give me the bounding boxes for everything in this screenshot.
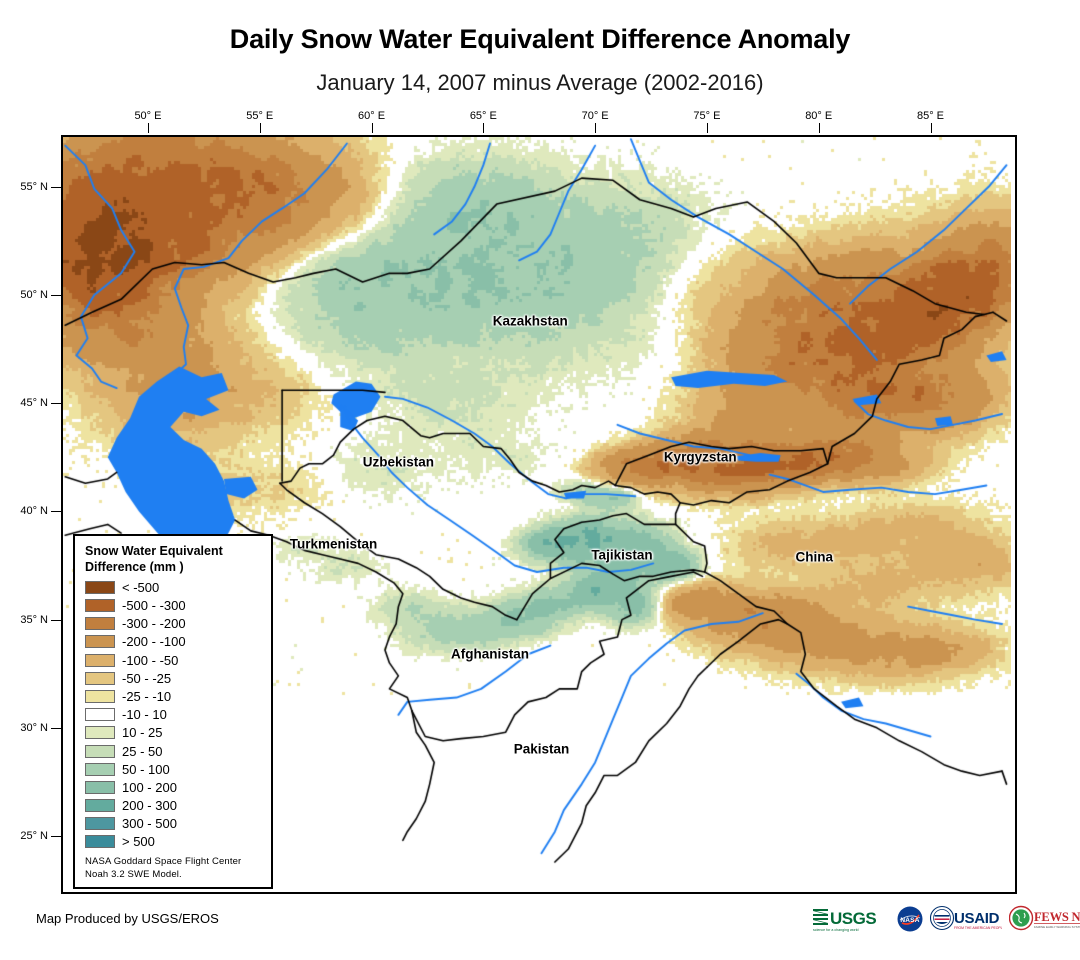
legend-label: -300 - -200 — [122, 617, 186, 630]
legend-row[interactable]: 25 - 50 — [85, 742, 263, 760]
page-title: Daily Snow Water Equivalent Difference A… — [0, 24, 1080, 55]
lon-tick-mark — [931, 123, 932, 133]
legend-panel[interactable]: Snow Water Equivalent Difference (mm ) <… — [73, 534, 273, 889]
svg-text:FEWS NET: FEWS NET — [1034, 910, 1080, 924]
legend-row[interactable]: 100 - 200 — [85, 778, 263, 796]
legend-swatch — [85, 635, 115, 648]
legend-label: -10 - 10 — [122, 708, 167, 721]
legend-swatch — [85, 708, 115, 721]
lon-tick-mark — [148, 123, 149, 133]
legend-label: 10 - 25 — [122, 726, 162, 739]
legend-label: > 500 — [122, 835, 155, 848]
produced-by-text: Map Produced by USGS/EROS — [36, 911, 219, 926]
legend-label: -200 - -100 — [122, 635, 186, 648]
lon-tick-mark — [260, 123, 261, 133]
legend-label: 300 - 500 — [122, 817, 177, 830]
usaid-logo-icon: USAID FROM THE AMERICAN PEOPLE — [930, 905, 1002, 933]
legend-row[interactable]: > 500 — [85, 833, 263, 851]
legend-swatch — [85, 654, 115, 667]
lon-tick-label: 55° E — [246, 110, 273, 122]
legend-row[interactable]: 300 - 500 — [85, 815, 263, 833]
lat-tick-label: 25° N — [8, 830, 48, 842]
legend-row[interactable]: -500 - -300 — [85, 596, 263, 614]
legend-label: 50 - 100 — [122, 763, 170, 776]
legend-label: -100 - -50 — [122, 654, 178, 667]
lat-tick-mark — [51, 403, 61, 404]
legend-label: 100 - 200 — [122, 781, 177, 794]
legend-swatch — [85, 817, 115, 830]
svg-text:FROM THE AMERICAN PEOPLE: FROM THE AMERICAN PEOPLE — [954, 926, 1002, 930]
lat-tick-mark — [51, 728, 61, 729]
legend-swatch — [85, 617, 115, 630]
lat-tick-label: 45° N — [8, 397, 48, 409]
page-subtitle: January 14, 2007 minus Average (2002-201… — [0, 70, 1080, 96]
nasa-logo-icon: NASA — [897, 906, 923, 932]
lat-tick-mark — [51, 187, 61, 188]
lat-tick-label: 55° N — [8, 181, 48, 193]
lat-tick-mark — [51, 836, 61, 837]
lon-tick-mark — [372, 123, 373, 133]
legend-swatch — [85, 781, 115, 794]
nasa-logo[interactable]: NASA — [897, 904, 923, 934]
lon-tick-label: 60° E — [358, 110, 385, 122]
legend-credit-line1: NASA Goddard Space Flight Center — [85, 856, 263, 869]
lon-tick-label: 75° E — [693, 110, 720, 122]
map-page: Daily Snow Water Equivalent Difference A… — [0, 0, 1080, 960]
lat-tick-label: 35° N — [8, 614, 48, 626]
legend-swatch — [85, 763, 115, 776]
svg-text:USGS: USGS — [830, 909, 876, 928]
usaid-logo[interactable]: USAID FROM THE AMERICAN PEOPLE — [930, 904, 1002, 934]
lon-tick-label: 85° E — [917, 110, 944, 122]
lat-tick-label: 50° N — [8, 289, 48, 301]
lon-tick-label: 70° E — [582, 110, 609, 122]
legend-row[interactable]: -10 - 10 — [85, 706, 263, 724]
legend-title: Snow Water Equivalent Difference (mm ) — [85, 544, 263, 575]
legend-title-line1: Snow Water Equivalent — [85, 544, 263, 560]
usgs-logo-icon: USGS science for a changing world — [812, 905, 890, 933]
lon-tick-label: 65° E — [470, 110, 497, 122]
lat-tick-mark — [51, 620, 61, 621]
legend-swatch — [85, 690, 115, 703]
legend-label: -25 - -10 — [122, 690, 171, 703]
legend-label: < -500 — [122, 581, 159, 594]
legend-credit: NASA Goddard Space Flight Center Noah 3.… — [85, 856, 263, 881]
svg-text:NASA: NASA — [900, 917, 919, 924]
fewsnet-logo[interactable]: FEWS NET FAMINE EARLY WARNING SYSTEMS NE… — [1009, 904, 1080, 934]
legend-row[interactable]: -100 - -50 — [85, 651, 263, 669]
lon-tick-label: 50° E — [134, 110, 161, 122]
legend-label: -50 - -25 — [122, 672, 171, 685]
legend-swatch — [85, 745, 115, 758]
legend-swatch — [85, 599, 115, 612]
svg-text:FAMINE EARLY WARNING SYSTEMS N: FAMINE EARLY WARNING SYSTEMS NETWORK — [1034, 925, 1080, 929]
svg-text:USAID: USAID — [954, 910, 1000, 927]
legend-row[interactable]: -50 - -25 — [85, 669, 263, 687]
legend-row[interactable]: -300 - -200 — [85, 615, 263, 633]
lon-tick-label: 80° E — [805, 110, 832, 122]
lon-tick-mark — [819, 123, 820, 133]
svg-text:science for a changing world: science for a changing world — [813, 928, 859, 932]
legend-row[interactable]: 50 - 100 — [85, 760, 263, 778]
legend-label: 200 - 300 — [122, 799, 177, 812]
usgs-logo[interactable]: USGS science for a changing world — [812, 904, 890, 934]
legend-swatch — [85, 835, 115, 848]
legend-swatch — [85, 581, 115, 594]
legend-swatch — [85, 799, 115, 812]
legend-row[interactable]: -25 - -10 — [85, 687, 263, 705]
lat-tick-label: 40° N — [8, 505, 48, 517]
legend-swatch — [85, 672, 115, 685]
lat-tick-mark — [51, 295, 61, 296]
legend-title-line2: Difference (mm ) — [85, 560, 263, 576]
lat-tick-label: 30° N — [8, 722, 48, 734]
lon-tick-mark — [483, 123, 484, 133]
lon-tick-mark — [707, 123, 708, 133]
lat-tick-mark — [51, 511, 61, 512]
legend-row[interactable]: 200 - 300 — [85, 797, 263, 815]
legend-swatch — [85, 726, 115, 739]
legend-class-list: < -500-500 - -300-300 - -200-200 - -100-… — [85, 578, 263, 851]
legend-row[interactable]: 10 - 25 — [85, 724, 263, 742]
legend-row[interactable]: < -500 — [85, 578, 263, 596]
legend-row[interactable]: -200 - -100 — [85, 633, 263, 651]
legend-label: 25 - 50 — [122, 745, 162, 758]
lon-tick-mark — [595, 123, 596, 133]
agency-logo-strip: USGS science for a changing world NASA U… — [812, 902, 1080, 936]
legend-label: -500 - -300 — [122, 599, 186, 612]
legend-credit-line2: Noah 3.2 SWE Model. — [85, 869, 263, 882]
fewsnet-logo-icon: FEWS NET FAMINE EARLY WARNING SYSTEMS NE… — [1009, 905, 1080, 933]
